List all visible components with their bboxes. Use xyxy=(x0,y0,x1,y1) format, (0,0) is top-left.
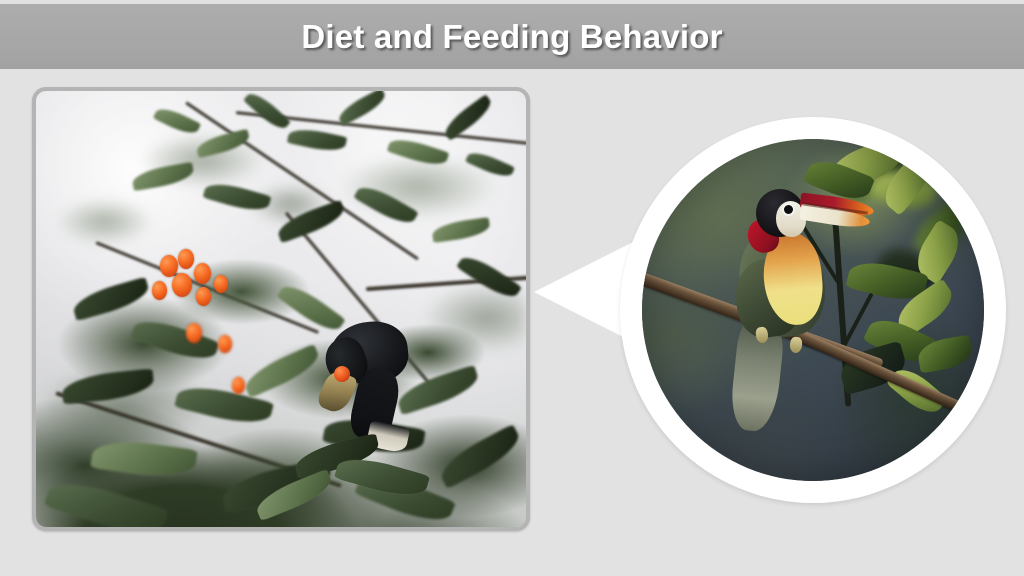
habitat-photo xyxy=(36,91,526,527)
habitat-photo-frame[interactable] xyxy=(32,87,530,531)
fruit xyxy=(218,335,232,353)
fruit xyxy=(160,255,178,277)
detail-callout[interactable] xyxy=(534,112,1002,508)
detail-callout-photo xyxy=(642,139,984,481)
fruit xyxy=(178,249,194,269)
fruit xyxy=(186,323,202,343)
fruit xyxy=(172,273,192,297)
slide-header-bar: Diet and Feeding Behavior xyxy=(0,4,1024,69)
fruit xyxy=(196,287,211,306)
fruit xyxy=(152,281,167,300)
fruit xyxy=(232,377,245,394)
fruit-in-bill xyxy=(334,366,350,382)
fruit xyxy=(214,275,228,293)
fruit xyxy=(194,263,211,284)
photo-vignette xyxy=(642,139,984,481)
slide-canvas: Diet and Feeding Behavior xyxy=(0,0,1024,576)
page-title: Diet and Feeding Behavior xyxy=(301,20,722,53)
